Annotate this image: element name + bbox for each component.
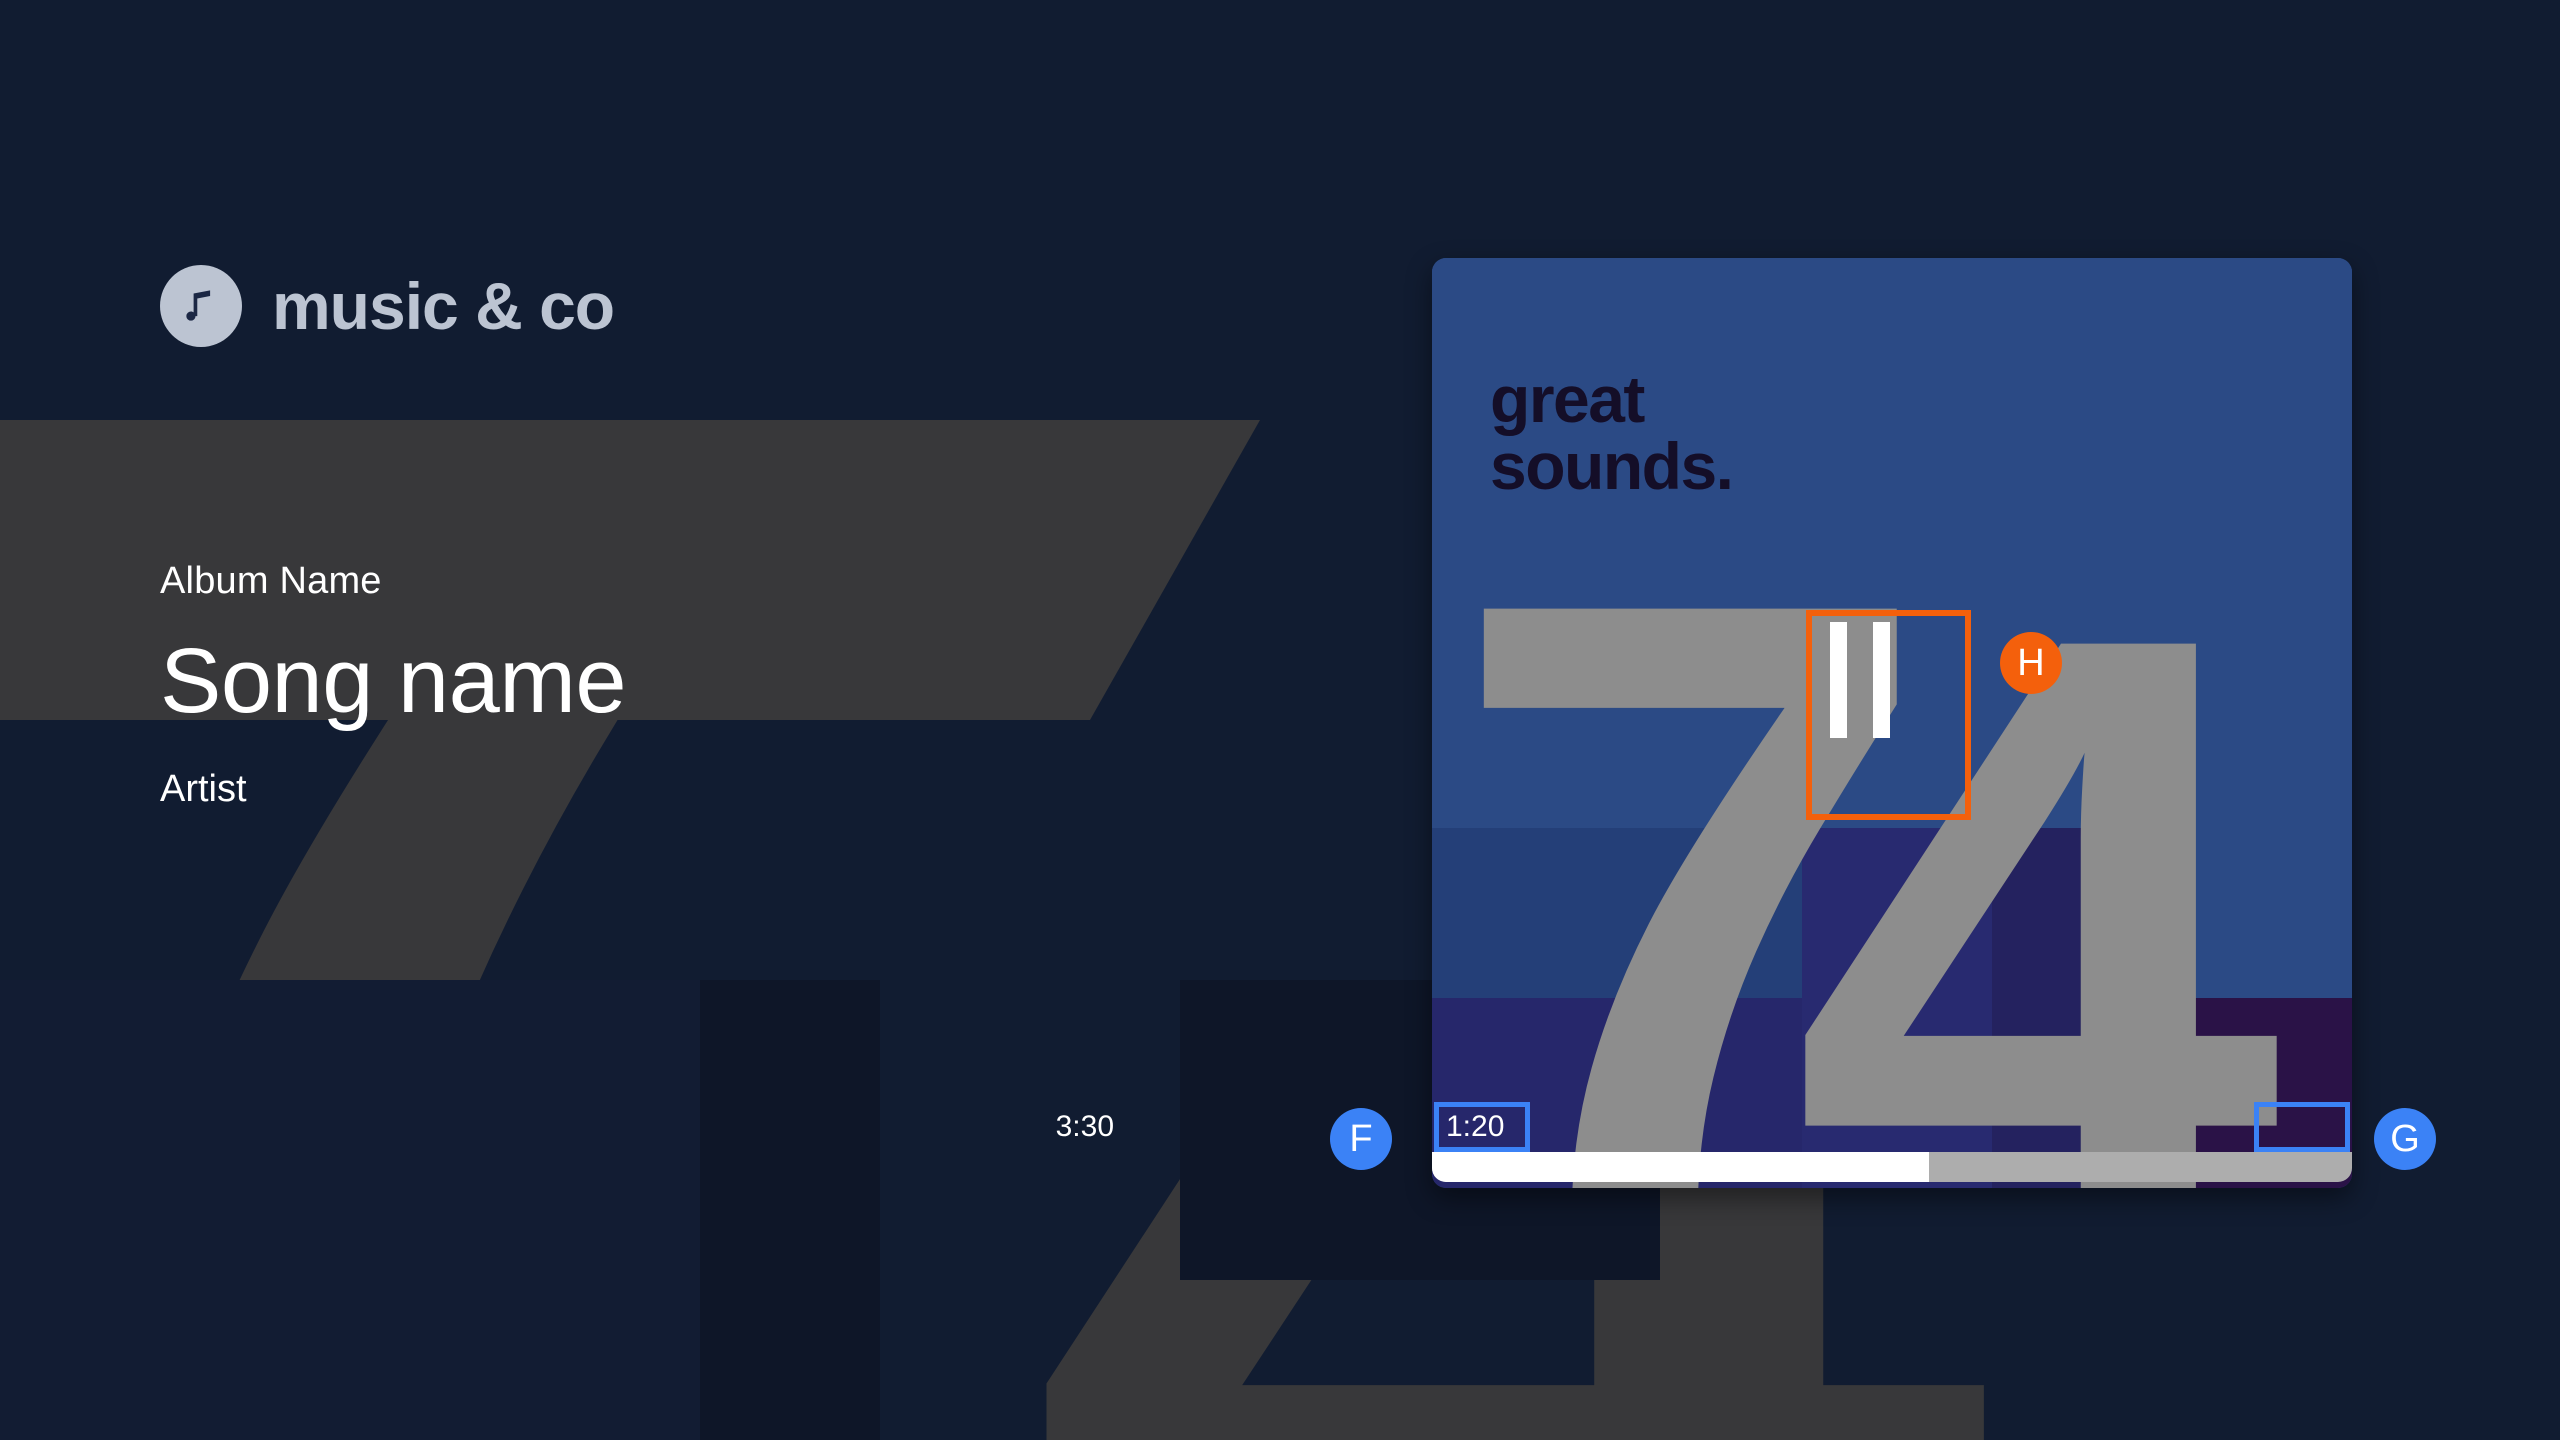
background-tile [0,980,700,1440]
annotation-badge-g: G [2374,1108,2436,1170]
album-art-headline: great sounds. [1490,366,1733,501]
song-title: Song name [160,633,626,730]
background-tile [700,980,880,1440]
pause-icon [1830,622,1847,738]
annotation-badge-f: F [1330,1108,1392,1170]
pause-icon [1873,622,1890,738]
annotation-badge-h: H [2000,632,2062,694]
pause-button[interactable] [1812,614,1908,746]
app-header: music & co [160,265,614,347]
album-name: Album Name [160,560,626,603]
total-time-label: 3:30 [1050,1108,1120,1146]
now-playing-info: Album Name Song name Artist [160,560,626,811]
music-note-icon [160,265,242,347]
brand-name: music & co [272,268,614,344]
player-screen: 7 4 music & co Album Name Song name Arti… [0,0,2560,1440]
current-time-label: 1:20 [1440,1108,1510,1146]
artist-name: Artist [160,768,626,811]
progress-fill [1432,1152,1929,1182]
progress-bar[interactable] [1432,1152,2352,1182]
